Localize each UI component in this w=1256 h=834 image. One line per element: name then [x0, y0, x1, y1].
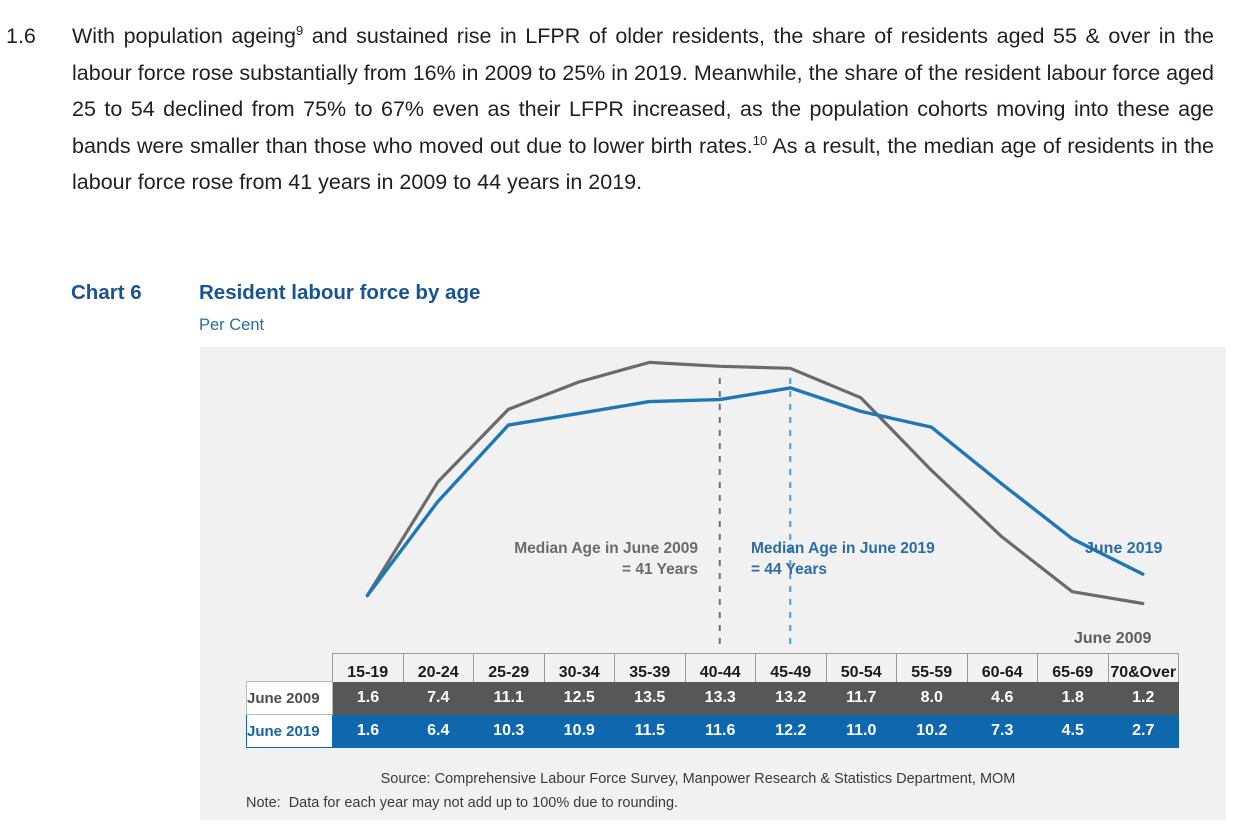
table-cell: 1.6 [333, 682, 404, 715]
table-cell: 11.6 [685, 715, 756, 748]
table-cell: 11.7 [826, 682, 897, 715]
table-cell: 11.5 [615, 715, 686, 748]
paragraph-number: 1.6 [0, 18, 72, 55]
series-label-june-2019: June 2019 [1085, 540, 1162, 558]
series-label-june-2009: June 2009 [1074, 630, 1151, 648]
footnote-ref-10: 10 [753, 132, 767, 147]
paragraph-text-part1: With population ageing [72, 24, 296, 48]
table-cell: 12.5 [544, 682, 615, 715]
annotation-median-age-2009: Median Age in June 2009= 41 Years [486, 538, 698, 580]
line-chart-plot [200, 347, 1226, 820]
table-cell: 10.2 [897, 715, 968, 748]
table-row-label-june-2019: June 2019 [247, 715, 333, 748]
table-cell: 6.4 [403, 715, 474, 748]
chart-title: Resident labour force by age [199, 281, 480, 305]
table-column-header-55-59: 55-59 [897, 654, 968, 682]
table-cell: 8.0 [897, 682, 968, 715]
table-column-header-50-54: 50-54 [826, 654, 897, 682]
table-cell: 13.3 [685, 682, 756, 715]
table-header-row: 15-1920-2425-2930-3435-3940-4445-4950-54… [247, 654, 1179, 682]
rounding-note: Note: Data for each year may not add up … [246, 795, 678, 811]
chart-units-label: Per Cent [199, 316, 264, 335]
paragraph-block: 1.6 With population ageing9 and sustaine… [0, 18, 1232, 201]
table-header-corner [247, 654, 333, 682]
table-column-header-40-44: 40-44 [685, 654, 756, 682]
table-column-header-25-29: 25-29 [474, 654, 545, 682]
table-cell: 12.2 [756, 715, 827, 748]
table-cell: 2.7 [1108, 715, 1179, 748]
chart-data-table-area: 15-1920-2425-2930-3435-3940-4445-4950-54… [246, 653, 1178, 748]
table-cell: 7.4 [403, 682, 474, 715]
table-cell: 1.8 [1038, 682, 1109, 715]
chart-panel: Median Age in June 2009= 41 Years Median… [200, 347, 1226, 820]
table-cell: 10.3 [474, 715, 545, 748]
table-cell: 7.3 [967, 715, 1038, 748]
annotation-2019-line2: = 44 Years [751, 561, 827, 578]
table-cell: 11.0 [826, 715, 897, 748]
source-note: Source: Comprehensive Labour Force Surve… [200, 771, 1226, 787]
table-cell: 4.6 [967, 682, 1038, 715]
table-cell: 13.2 [756, 682, 827, 715]
table-column-header-65-69: 65-69 [1038, 654, 1109, 682]
table-row-label-june-2009: June 2009 [247, 682, 333, 715]
table-column-header-45-49: 45-49 [756, 654, 827, 682]
table-cell: 1.2 [1108, 682, 1179, 715]
table-row: June 20191.66.410.310.911.511.612.211.01… [247, 715, 1179, 748]
annotation-median-age-2019: Median Age in June 2019= 44 Years [751, 538, 971, 580]
chart-number-label: Chart 6 [71, 281, 199, 305]
table-cell: 11.1 [474, 682, 545, 715]
table-column-header-30-34: 30-34 [544, 654, 615, 682]
table-column-header-60-64: 60-64 [967, 654, 1038, 682]
paragraph-text: With population ageing9 and sustained ri… [72, 18, 1232, 201]
table-cell: 13.5 [615, 682, 686, 715]
table-cell: 4.5 [1038, 715, 1109, 748]
annotation-2019-line1: Median Age in June 2019 [751, 540, 935, 557]
table-column-header-15-19: 15-19 [333, 654, 404, 682]
table-row: June 20091.67.411.112.513.513.313.211.78… [247, 682, 1179, 715]
table-column-header-70-over: 70&Over [1108, 654, 1179, 682]
table-column-header-35-39: 35-39 [615, 654, 686, 682]
annotation-2009-line1: Median Age in June 2009 [514, 540, 698, 557]
data-table: 15-1920-2425-2930-3435-3940-4445-4950-54… [246, 653, 1179, 748]
page-root: 1.6 With population ageing9 and sustaine… [0, 0, 1256, 834]
annotation-2009-line2: = 41 Years [622, 561, 698, 578]
chart-heading: Chart 6 Resident labour force by age [71, 281, 480, 305]
table-cell: 10.9 [544, 715, 615, 748]
table-column-header-20-24: 20-24 [403, 654, 474, 682]
table-cell: 1.6 [333, 715, 404, 748]
